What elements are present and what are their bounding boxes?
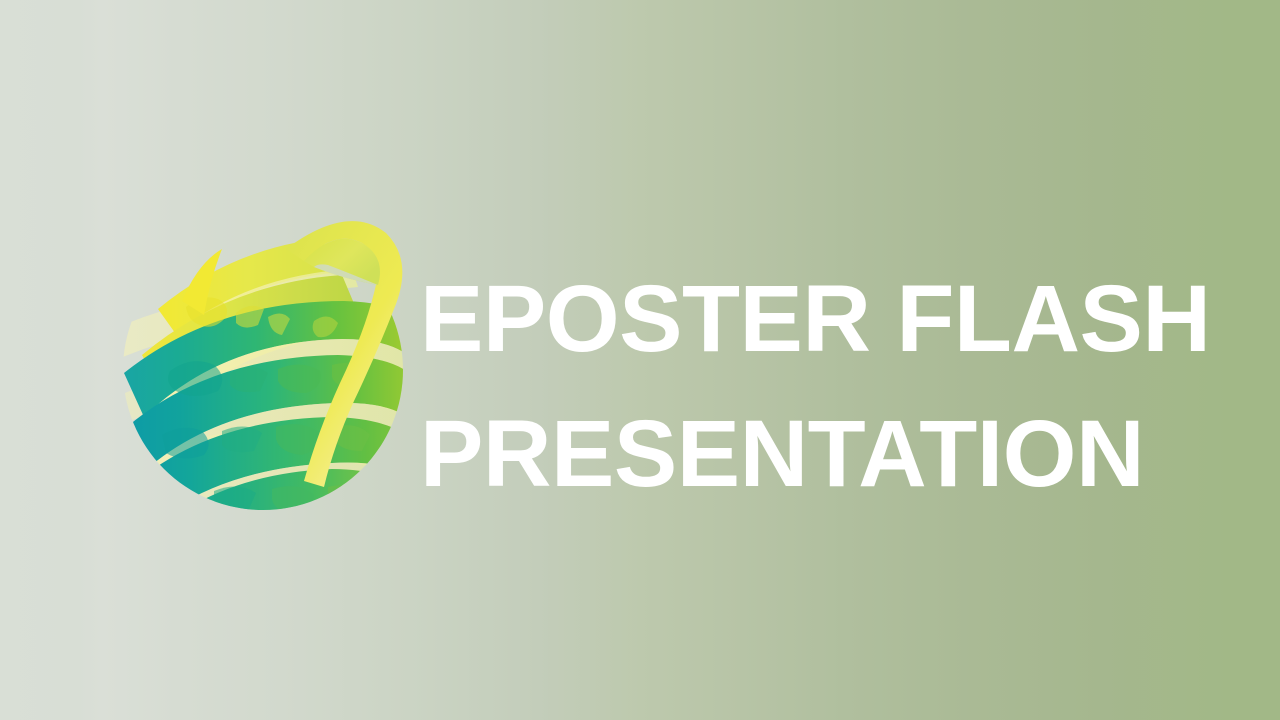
slide-canvas: EPOSTER FLASH PRESENTATION	[0, 0, 1280, 720]
heading-line-1: EPOSTER FLASH	[420, 252, 1220, 387]
globe-ribbon-logo	[118, 205, 408, 515]
heading-block: EPOSTER FLASH PRESENTATION	[420, 252, 1220, 522]
heading-line-2: PRESENTATION	[420, 387, 1220, 522]
